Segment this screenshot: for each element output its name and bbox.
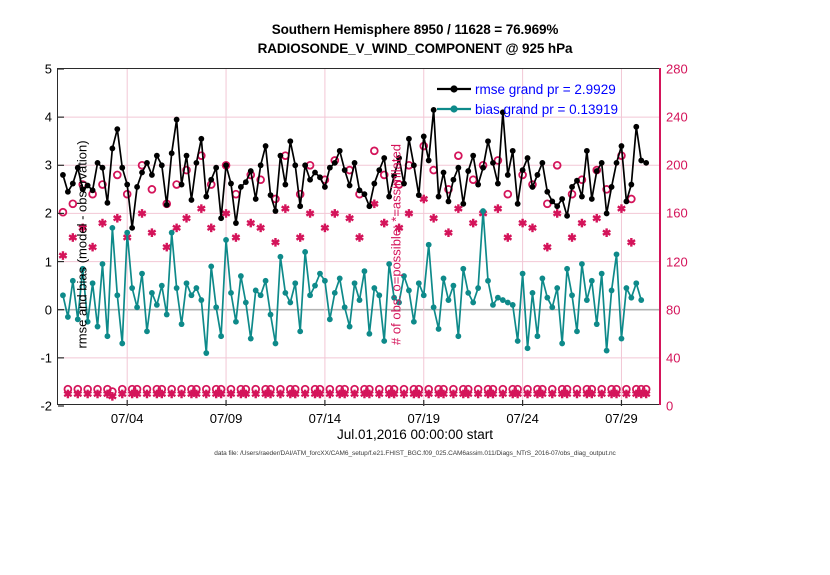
y-tick-left-7: -2 [40,399,52,414]
y-tick-right-4: 120 [666,254,688,269]
x-tick-3: 07/19 [407,411,440,426]
data-file-footer: data file: /Users/raeder/DAI/ATM_forcXX/… [0,450,830,457]
plot-canvas [58,69,661,406]
y-tick-left-3: 2 [45,206,52,221]
y-tick-right-6: 40 [666,350,680,365]
x-tick-0: 07/04 [111,411,144,426]
x-axis-label: Jul.01,2016 00:00:00 start [0,427,830,442]
y-tick-right-7: 0 [666,399,673,414]
series-obs-possible [60,143,650,395]
y-tick-left-1: 4 [45,110,52,125]
x-tick-5: 07/29 [605,411,638,426]
title-line-1: Southern Hemisphere 8950 / 11628 = 76.96… [0,20,830,39]
x-tick-4: 07/24 [506,411,539,426]
legend-item-rmse[interactable]: rmse grand pr = 2.9929 [437,80,618,98]
y-tick-left-4: 1 [45,254,52,269]
y-tick-right-2: 200 [666,158,688,173]
y-tick-right-1: 240 [666,110,688,125]
legend-marker-bias-icon [437,102,471,116]
legend-label-bias: bias grand pr = 0.13919 [475,102,618,117]
y-tick-left-0: 5 [45,62,52,77]
x-tick-2: 07/14 [309,411,342,426]
legend-marker-rmse-icon [437,82,471,96]
y-tick-right-3: 160 [666,206,688,221]
chart-page: Southern Hemisphere 8950 / 11628 = 76.96… [0,0,830,470]
chart-title: Southern Hemisphere 8950 / 11628 = 76.96… [0,20,830,58]
y-tick-left-2: 3 [45,158,52,173]
series-bias [60,208,644,356]
y-tick-left-6: -1 [40,350,52,365]
title-line-2: RADIOSONDE_V_WIND_COMPONENT @ 925 hPa [0,39,830,58]
legend-label-rmse: rmse grand pr = 2.9929 [475,82,616,97]
y-tick-right-0: 280 [666,62,688,77]
y-tick-left-5: 0 [45,302,52,317]
legend-item-bias[interactable]: bias grand pr = 0.13919 [437,100,618,118]
y-axis-right-line [659,68,661,405]
plot-area: rmse and bias (model - observation) # of… [57,68,660,405]
x-tick-1: 07/09 [210,411,243,426]
y-tick-right-5: 80 [666,302,680,317]
series-obs-assimilated [59,195,650,401]
chart-legend: rmse grand pr = 2.9929 bias grand pr = 0… [437,80,618,118]
